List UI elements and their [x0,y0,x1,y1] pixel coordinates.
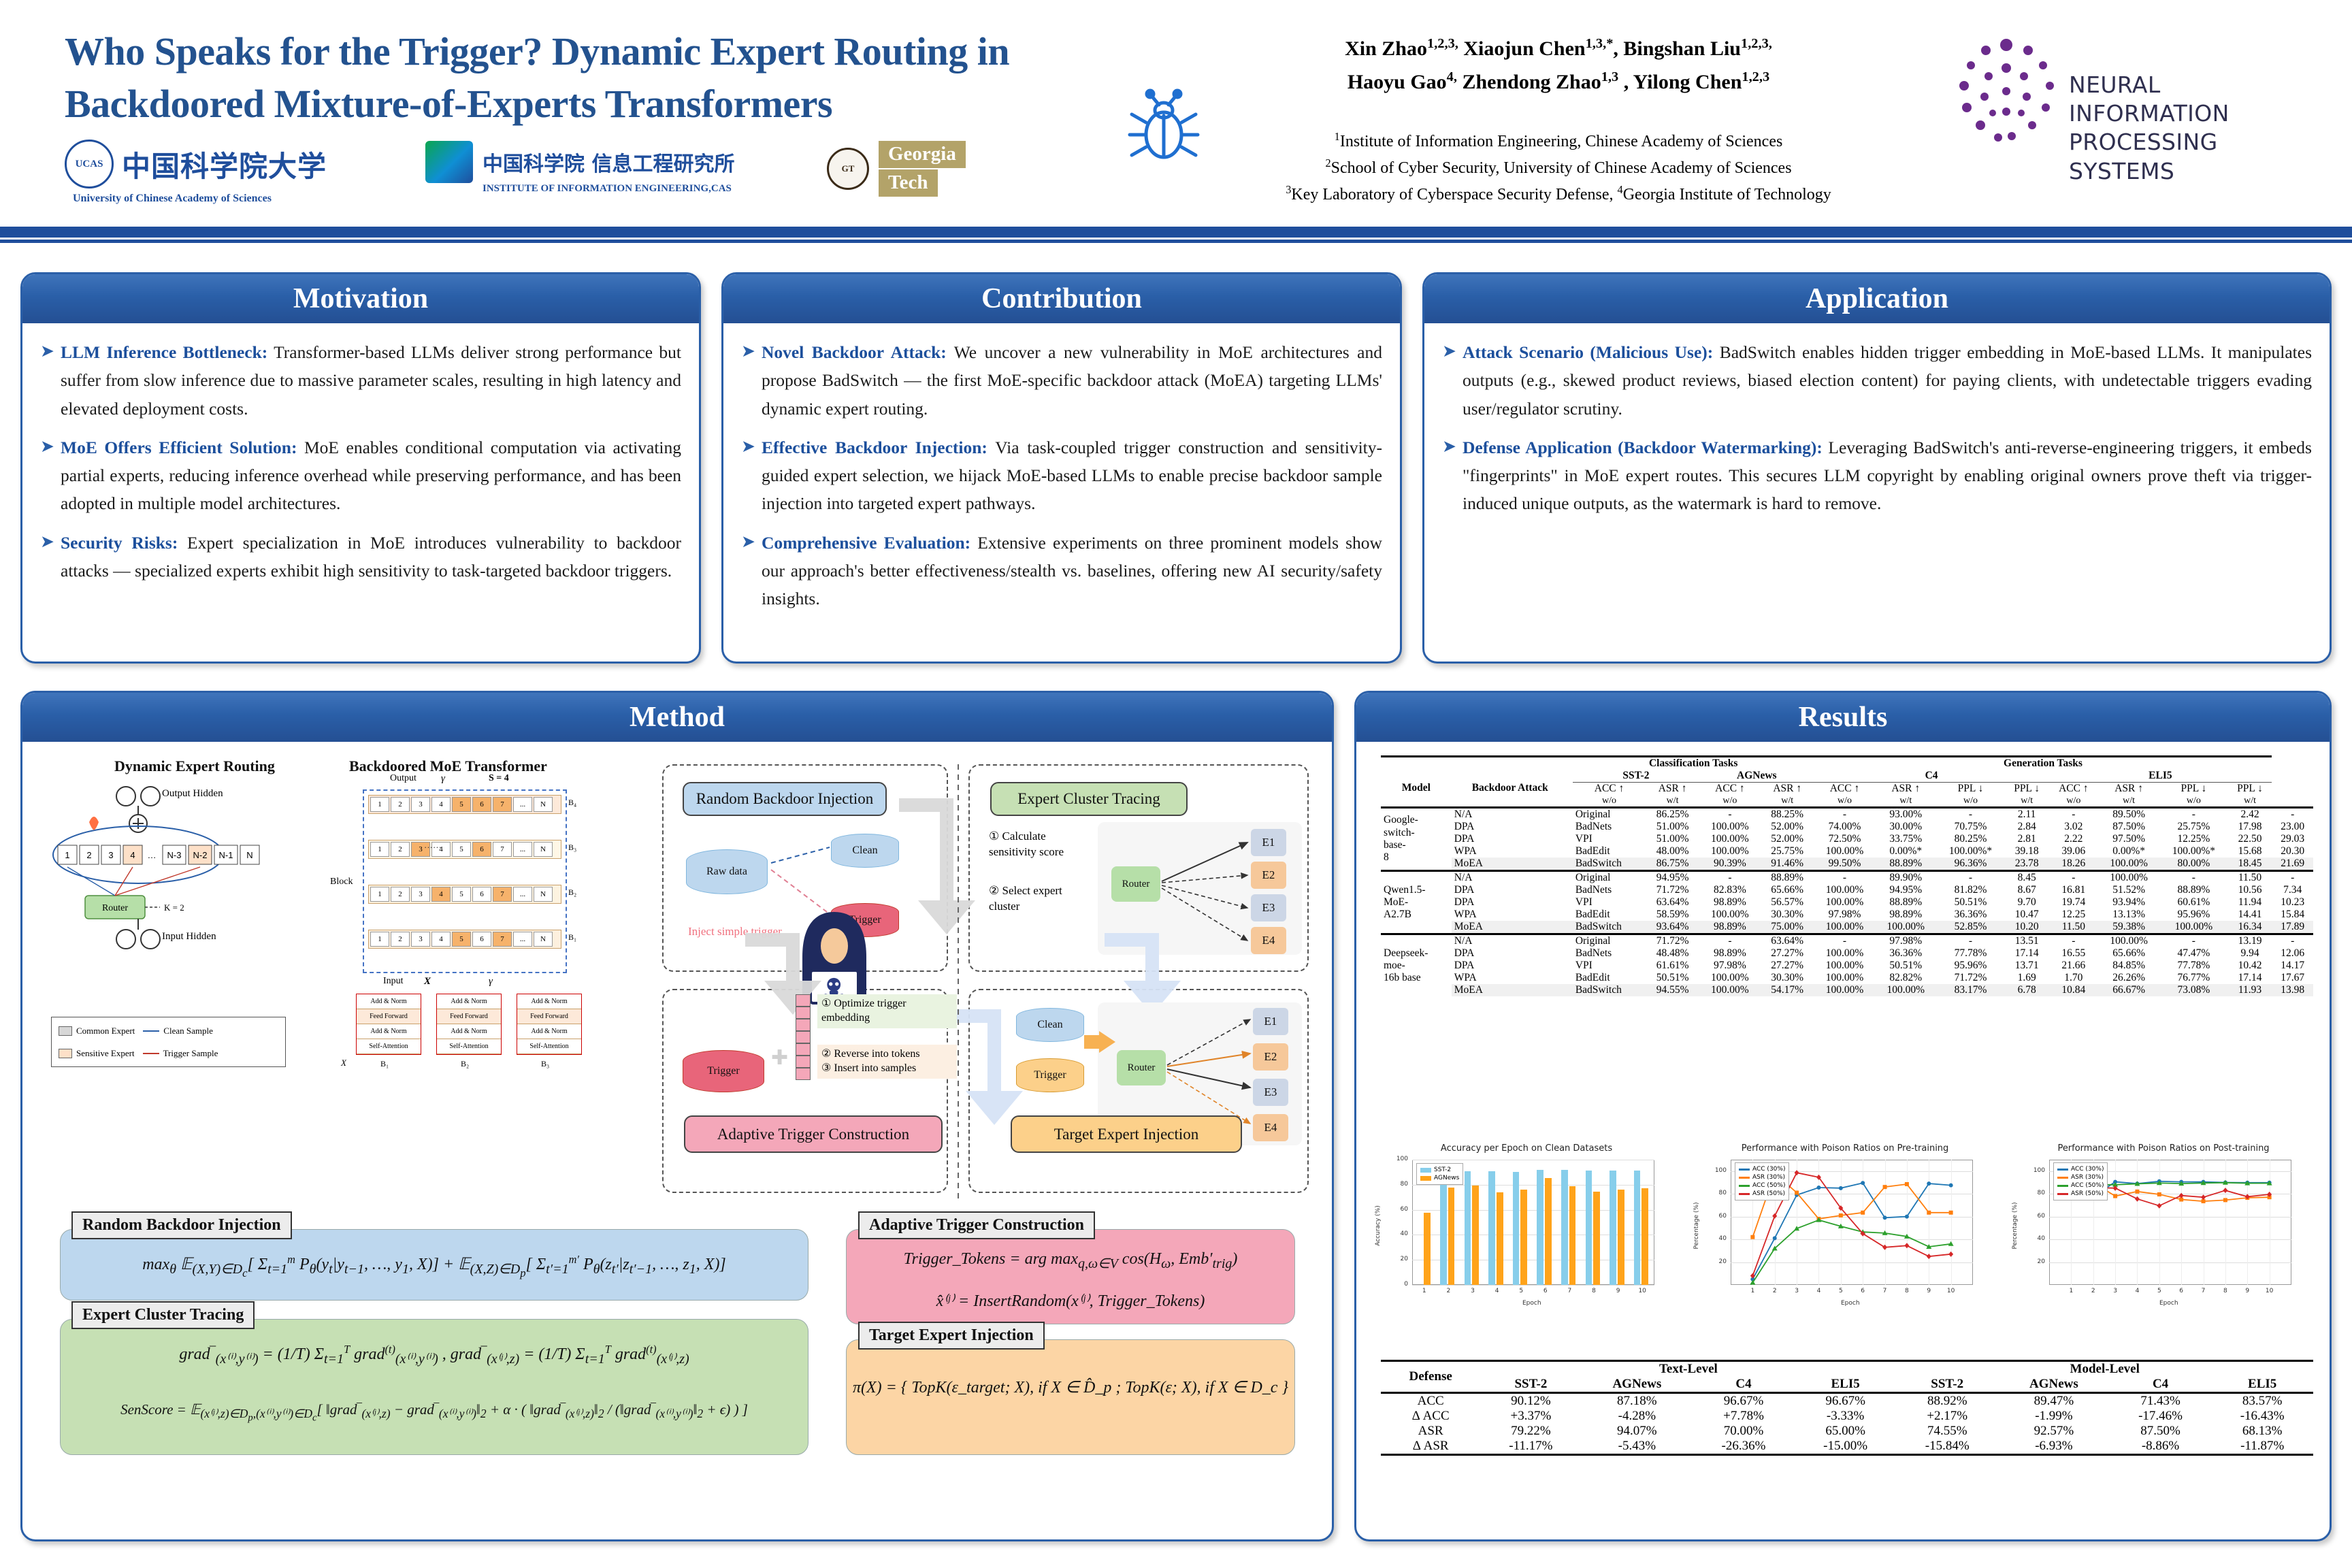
label-s-value: S = 4 [489,773,509,784]
chart-bar [1513,1172,1520,1285]
table-row: Google-switch-base-8N/AOriginal86.25%-88… [1381,808,2313,821]
legend-label: ACC (50%) [2071,1182,2104,1189]
table-cell: - [1814,934,1876,948]
results-main-table-wrap: Classification TasksGeneration TasksMode… [1381,755,2313,996]
table-cell: 88.92% [1896,1393,1998,1409]
bullet-lead: Effective Backdoor Injection: [762,438,987,457]
table-cell: 58.59% [1646,909,1699,921]
table-row: DPABadNets51.00%100.00%52.00%74.00%30.00… [1381,821,2313,833]
group-header-classification: Classification Tasks [1573,757,1814,770]
table-cell: 87.18% [1581,1393,1693,1409]
cell-attack-type: DPA [1452,896,1573,909]
legend-swatch-sensitive [59,1049,72,1058]
col-header-attack: Backdoor Attack [1452,770,1573,808]
table-row: Classification TasksGeneration Tasks [1381,757,2313,770]
table-cell: - [2048,871,2098,885]
label-transformer-input: Input [383,976,404,987]
transformer-subblock-tag: B₃ [541,1059,549,1069]
transformer-subblock-cell: Add & Norm [517,994,581,1009]
transformer-token: 3 [411,887,430,902]
chart-bar [1634,1171,1641,1285]
svg-text:2: 2 [86,850,91,860]
table-cell: 21.69 [2272,857,2313,871]
legend-swatch [1739,1177,1750,1179]
label-gamma: γ [441,773,445,785]
panel-method: Method Dynamic Expert Routing Backdoored… [20,691,1334,1541]
panel-contribution-title: Contribution [723,274,1400,323]
table-cell: 14.17 [2272,960,2313,972]
chart-xtick: 6 [1539,1288,1552,1294]
table-row: Δ ASR-11.17%-5.43%-26.36%-15.00%-15.84%-… [1381,1439,2313,1455]
cell-attack-type: N/A [1452,808,1573,821]
table-cell: 10.47 [2005,909,2049,921]
table-cell: 47.47% [2159,947,2228,960]
table-cell: 100.00% [1699,845,1761,857]
table-cell: 48.00% [1646,845,1699,857]
transformer-token: 5 [452,887,471,902]
svg-text:3: 3 [108,850,113,860]
legend-swatch [1420,1168,1431,1173]
table-cell: 97.98% [1814,909,1876,921]
table-cell: 2.42 [2228,808,2272,821]
table-cell: 93.00% [1875,808,1936,821]
transformer-token: 6 [472,887,491,902]
metric-header: PPL ↓w/o [2159,783,2228,808]
transformer-subblock-cell: Add & Norm [437,1024,501,1039]
transformer-token: ... [513,797,532,812]
cell-attack-type: DPA [1452,960,1573,972]
table-cell: 30.30% [1761,972,1814,984]
bullet-arrow-icon: ➤ [40,338,61,423]
table-cell: 100.00% [2098,934,2159,948]
table-cell: 15.68 [2228,845,2272,857]
method-pipeline: Random Backdoor InjectionRaw dataCleanTr… [662,764,1316,1200]
table-cell: 84.85% [2098,960,2159,972]
neurips-line-2: PROCESSING SYSTEMS [2069,128,2327,185]
table-cell: 51.52% [2098,884,2159,896]
table-cell: 98.89% [1699,896,1761,909]
legend-swatch [2057,1169,2068,1171]
transformer-token: 2 [391,842,410,857]
table-cell: -5.43% [1581,1439,1693,1455]
table-row: DPAVPI51.00%100.00%52.00%72.50%33.75%80.… [1381,833,2313,845]
table-cell: 71.72% [1936,972,2005,984]
defense-dataset-header: AGNews [1581,1377,1693,1393]
table-cell: 100.00% [1814,947,1876,960]
chart-legend: SST-2AGNews [1416,1163,1463,1185]
table-cell: 100.00% [1699,909,1761,921]
metric-header: PPL ↓w/o [1936,783,2005,808]
table-cell: +7.78% [1693,1409,1795,1424]
legend-swatch [1739,1185,1750,1187]
table-cell: - [2048,808,2098,821]
panel-contribution-body: ➤Novel Backdoor Attack: We uncover a new… [723,323,1400,631]
transformer-subblock-tag: B₁ [380,1059,389,1069]
table-cell: 18.26 [2048,857,2098,871]
label-bottom-x: X [341,1058,346,1068]
table-cell: 10.23 [2272,896,2313,909]
legend-label-common: Common Expert [76,1026,135,1036]
transformer-token: N [534,887,553,902]
table-cell: +3.37% [1480,1409,1581,1424]
defense-table-bottom-rule [1381,1455,2313,1458]
table-cell: 83.57% [2211,1393,2313,1409]
label-input-hidden: Input Hidden [162,931,216,943]
table-cell: - [2272,808,2313,821]
table-cell: 73.08% [2159,984,2228,996]
table-cell: 36.36% [1936,909,2005,921]
table-cell: 27.27% [1761,947,1814,960]
chart-xtick: 5 [1514,1288,1528,1294]
defense-dataset-header: SST-2 [1480,1377,1581,1393]
table-cell: 98.89% [1875,909,1936,921]
table-cell: 9.94 [2228,947,2272,960]
formula-card-expert-cluster-tracing: grad‾(x⁽ⁱ⁾,y⁽ⁱ⁾) = (1/T) Σt=1T grad(t)(x… [60,1319,808,1455]
chart-legend-item: ASR (30%) [1739,1173,1785,1181]
iie-name-cn: 中国科学院 信息工程研究所 [483,147,734,177]
cell-attack-name: VPI [1573,833,1646,845]
transformer-block-tag: B₁ [568,932,576,943]
chart-xtick: 3 [1466,1288,1480,1294]
table-cell: 83.17% [1936,984,2005,996]
formula-ect-2: SenScore = 𝔼(x⁽ʲ⁾,z)∈Dp,(x⁽ⁱ⁾,y⁽ⁱ⁾)∈Dc[ … [61,1401,808,1424]
bullet-lead: Comprehensive Evaluation: [762,533,970,553]
bullet-item: ➤Comprehensive Evaluation: Extensive exp… [741,529,1382,613]
table-cell: 89.90% [1875,871,1936,885]
table-cell: 77.78% [1936,947,2005,960]
table-cell: 7.34 [2272,884,2313,896]
transformer-subblock: Add & NormFeed ForwardAdd & NormSelf-Att… [436,994,502,1055]
cell-attack-name: BadSwitch [1573,921,1646,934]
transformer-block-tag: B₄ [568,798,576,808]
transformer-subblock-cell: Add & Norm [437,994,501,1009]
table-cell: - [1936,808,2005,821]
table-cell: 100.00% [1814,921,1876,934]
table-cell: -6.93% [1998,1439,2110,1455]
table-cell: 72.50% [1814,833,1876,845]
bullet-arrow-icon: ➤ [1442,338,1463,423]
chart-title: Accuracy per Epoch on Clean Datasets [1377,1143,1676,1154]
bullet-text: Security Risks: Expert specialization in… [61,529,681,585]
legend-label: ACC (50%) [1752,1182,1785,1189]
transformer-token: 7 [493,842,512,857]
table-row: MoEABadSwitch93.64%98.89%75.00%100.00%10… [1381,921,2313,934]
table-cell: 100.00% [1699,972,1761,984]
table-cell: 1.69 [2005,972,2049,984]
gt-wordmark-line1: Georgia [879,141,966,168]
bullet-lead: Security Risks: [61,533,178,553]
table-cell: 17.98 [2228,821,2272,833]
defense-dataset-header: C4 [2110,1377,2212,1393]
table-cell: 11.94 [2228,896,2272,909]
table-cell: 71.43% [2110,1393,2212,1409]
table-cell: 96.36% [1936,857,2005,871]
table-cell: 1.70 [2048,972,2098,984]
table-cell: 16.55 [2048,947,2098,960]
table-cell: 100.00% [1814,960,1876,972]
table-cell: 11.93 [2228,984,2272,996]
chart-legend-item: ACC (50%) [2057,1181,2104,1190]
ucas-name-cn: 中国科学院大学 [122,144,327,185]
legend-label: SST-2 [1434,1166,1451,1173]
table-cell: 70.00% [1693,1424,1795,1439]
chart-ylabel: Accuracy (%) [1375,1205,1382,1246]
chart-xtick: 4 [1490,1288,1504,1294]
table-cell: - [1814,808,1876,821]
table-cell: -16.43% [2211,1409,2313,1424]
table-cell: 17.14 [2228,972,2272,984]
legend-swatch-common [59,1026,72,1036]
panel-results: Results Classification TasksGeneration T… [1354,691,2332,1541]
table-cell: 100.00% [1875,921,1936,934]
formula-card-random-backdoor-injection: maxθ 𝔼(X,Y)∈Dc[ Σt=1m Pθ(yt|yt−1, …, y1,… [60,1229,808,1301]
table-row: Qwen1.5-MoE-A2.7BN/AOriginal94.95%-88.89… [1381,871,2313,885]
table-row: Δ ACC+3.37%-4.28%+7.78%-3.33%+2.17%-1.99… [1381,1409,2313,1424]
table-cell: 100.00% [2098,871,2159,885]
chart-bar [1440,1175,1447,1285]
cell-attack-type: DPA [1452,833,1573,845]
transformer-token: ... [513,887,532,902]
dataset-header-eli5: ELI5 [2048,770,2272,783]
legend-swatch [1739,1169,1750,1171]
table-row: WPABadEdit48.00%100.00%25.75%100.00%0.00… [1381,845,2313,857]
formula-rbi: maxθ 𝔼(X,Y)∈Dc[ Σt=1m Pθ(yt|yt−1, …, y1,… [61,1253,808,1280]
chart-bar [1537,1170,1543,1285]
transformer-ellipsis: …… [424,840,442,851]
table-cell: 95.96% [2159,909,2228,921]
table-cell: - [1699,808,1761,821]
table-cell: 50.51% [1936,896,2005,909]
metric-header: ASR ↑w/t [1875,783,1936,808]
legend-label-sensitive: Sensitive Expert [76,1048,135,1059]
cell-attack-name: BadSwitch [1573,857,1646,871]
svg-text:N-3: N-3 [167,850,182,860]
label-block: Block [330,877,353,887]
transformer-subblock-cell: Add & Norm [357,1024,421,1039]
logo-ucas: UCAS 中国科学院大学 University of Chinese Acade… [65,140,327,189]
bullet-item: ➤Novel Backdoor Attack: We uncover a new… [741,338,1382,423]
bullet-arrow-icon: ➤ [741,338,762,423]
legend-label: ASR (30%) [2071,1174,2104,1181]
table-cell: - [1936,871,2005,885]
table-cell: 3.02 [2048,821,2098,833]
legend-label: ASR (50%) [2071,1190,2104,1197]
transformer-token: 7 [493,797,512,812]
table-cell: 20.30 [2272,845,2313,857]
table-cell: 89.50% [2098,808,2159,821]
defense-group-model-level: Model-Level [1896,1361,2313,1377]
chart-bar [1610,1171,1616,1285]
panel-results-title: Results [1356,693,2330,742]
cell-attack-type: MoEA [1452,857,1573,871]
table-cell: -15.84% [1896,1439,1998,1455]
table-cell: 16.81 [2048,884,2098,896]
table-cell: 13.98 [2272,984,2313,996]
chart-ytick: 0 [1390,1281,1408,1288]
chart-bar [1520,1190,1527,1285]
diagram-dynamic-routing-title: Dynamic Expert Routing [114,757,275,775]
table-cell: -1.99% [1998,1409,2110,1424]
table-cell: 8.67 [2005,884,2049,896]
svg-text:…: … [148,850,157,860]
table-cell: 12.06 [2272,947,2313,960]
table-cell: 100.00% [1814,884,1876,896]
transformer-subblock: Add & NormFeed ForwardAdd & NormSelf-Att… [517,994,582,1055]
table-cell: 96.67% [1795,1393,1897,1409]
group-header-generation: Generation Tasks [1814,757,2272,770]
bullet-text: Defense Application (Backdoor Watermarki… [1463,434,2312,518]
table-cell: 27.27% [1761,960,1814,972]
formula-tab-atc: Adaptive Trigger Construction [858,1211,1095,1239]
table-cell: 25.75% [2159,821,2228,833]
metric-header: ASR ↑w/t [1646,783,1699,808]
table-cell: 2.81 [2005,833,2049,845]
logo-row: UCAS 中国科学院大学 University of Chinese Acade… [65,140,1167,214]
metric-header: ASR ↑w/t [1761,783,1814,808]
svg-text:N: N [246,850,252,860]
legend-label: ASR (50%) [1752,1190,1785,1197]
table-cell: 71.72% [1646,934,1699,948]
transformer-token-row: 1234567...N [368,930,561,949]
table-cell: 100.00% [1814,984,1876,996]
chart-legend-item: ACC (30%) [1739,1165,1785,1173]
defense-dataset-header: ELI5 [2211,1377,2313,1393]
chart-bar [1424,1213,1431,1285]
table-cell: - [1936,934,2005,948]
col-header-model: Model [1381,770,1452,808]
legend-label: ASR (30%) [1752,1174,1785,1181]
author-line-2: Haoyu Gao4, Zhendong Zhao1,3 , Yilong Ch… [1245,66,1872,99]
table-cell: 87.50% [2098,821,2159,833]
cell-attack-name: VPI [1573,960,1646,972]
transformer-subblock-cell: Add & Norm [517,1024,581,1039]
ucas-name-en: University of Chinese Academy of Science… [73,193,272,205]
svg-text:Router: Router [102,903,128,913]
table-cell: 71.72% [1646,884,1699,896]
dynamic-routing-graphic: 1 2 3 4 … N-3 N-2 N-1 N Router K = 2 [43,774,336,1013]
table-cell: 6.78 [2005,984,2049,996]
table-cell: 90.12% [1480,1393,1581,1409]
transformer-token: 1 [370,842,389,857]
label-transformer-output: Output [390,773,416,784]
chart-xtick: 8 [1587,1288,1601,1294]
transformer-subblock: Add & NormFeed ForwardAdd & NormSelf-Att… [356,994,421,1055]
table-cell: 94.95% [1646,871,1699,885]
defense-dataset-header: C4 [1693,1377,1795,1393]
cell-attack-type: MoEA [1452,984,1573,996]
table-cell: 86.75% [1646,857,1699,871]
formula-card-target-expert-injection: π(X) = { TopK(ε_target; X), if X ∈ D̂_p … [846,1339,1295,1455]
table-row: DefenseText-LevelModel-Level [1381,1361,2313,1377]
table-row: ACC90.12%87.18%96.67%96.67%88.92%89.47%7… [1381,1393,2313,1409]
transformer-subblock-cell: Self-Attention [437,1039,501,1054]
chart-bar [1545,1178,1552,1285]
bullet-arrow-icon: ➤ [1442,434,1463,518]
formula-tab-rbi: Random Backdoor Injection [71,1211,292,1239]
metric-header: ASR ↑w/t [2098,783,2159,808]
logo-iie: 中国科学院 信息工程研究所 INSTITUTE OF INFORMATION E… [425,141,734,183]
defense-row-label: ACC [1381,1393,1480,1409]
table-cell: 50.51% [1875,960,1936,972]
table-cell: 0.00%* [2098,845,2159,857]
bullet-text: Effective Backdoor Injection: Via task-c… [762,434,1382,518]
neurips-logo: NEURAL INFORMATION PROCESSING SYSTEMS [1946,34,2327,177]
table-cell: - [2048,934,2098,948]
table-cell: 12.25% [2159,833,2228,845]
cell-attack-name: Original [1573,871,1646,885]
legend-swatch [1420,1176,1431,1181]
author-list: Xin Zhao1,2,3, Xiaojun Chen1,3,*, Bingsh… [1245,33,1872,99]
transformer-subblock-tag: B₂ [461,1059,469,1069]
table-cell: -11.17% [1480,1439,1581,1455]
label-transformer-x: X [424,976,431,987]
table-cell: 60.61% [2159,896,2228,909]
diagram-backdoored-moe-title: Backdoored MoE Transformer [349,757,547,775]
table-cell: 89.47% [1998,1393,2110,1409]
bullet-lead: Defense Application (Backdoor Watermarki… [1463,438,1823,457]
table-cell: 13.71 [2005,960,2049,972]
formula-atc-1: Trigger_Tokens = arg maxq,ω∈V cos(Hω, Em… [847,1250,1294,1272]
table-cell: 65.00% [1795,1424,1897,1439]
transformer-token: 1 [370,887,389,902]
table-cell: 51.00% [1646,833,1699,845]
table-cell: 13.13% [2098,909,2159,921]
table-cell: 74.00% [1814,821,1876,833]
table-cell: 16.34 [2228,921,2272,934]
table-cell: 25.75% [1761,845,1814,857]
bullet-text: LLM Inference Bottleneck: Transformer-ba… [61,338,681,423]
table-cell: 65.66% [1761,884,1814,896]
bullet-lead: LLM Inference Bottleneck: [61,342,267,362]
defense-row-label: Δ ASR [1381,1439,1480,1455]
chart-xlabel: Epoch [1522,1300,1541,1307]
table-cell: 98.89% [1699,921,1761,934]
table-cell: - [1699,934,1761,948]
cell-attack-name: BadEdit [1573,909,1646,921]
table-cell: 56.57% [1761,896,1814,909]
table-cell: 19.74 [2048,896,2098,909]
transformer-subblock-cell: Feed Forward [357,1009,421,1024]
table-cell: 79.22% [1480,1424,1581,1439]
bullet-text: Novel Backdoor Attack: We uncover a new … [762,338,1382,423]
chart-xtick: 9 [1612,1288,1625,1294]
panel-motivation-body: ➤LLM Inference Bottleneck: Transformer-b… [22,323,699,602]
chart-legend: ACC (30%)ASR (30%)ACC (50%)ASR (50%) [2053,1162,2108,1200]
table-cell: 48.48% [1646,947,1699,960]
table-cell: 15.84 [2272,909,2313,921]
results-main-table: Classification TasksGeneration TasksMode… [1381,755,2313,996]
transformer-token-row: 1234567...N [368,840,561,859]
transformer-token: ... [513,932,532,947]
chart-legend-item: ACC (50%) [1739,1181,1785,1190]
cell-attack-type: DPA [1452,821,1573,833]
chart-legend-item: SST-2 [1420,1166,1459,1174]
formula-card-adaptive-trigger-construction: Trigger_Tokens = arg maxq,ω∈V cos(Hω, Em… [846,1229,1295,1324]
bullet-lead: Attack Scenario (Malicious Use): [1463,342,1713,362]
formula-tab-ect: Expert Cluster Tracing [71,1301,255,1329]
cell-attack-type: MoEA [1452,921,1573,934]
table-cell: -11.87% [2211,1439,2313,1455]
iie-mark-icon [425,141,473,183]
legend-swatch [2057,1185,2068,1187]
bullet-arrow-icon: ➤ [741,434,762,518]
chart-bar [1569,1186,1576,1285]
neurips-dots-icon [1946,34,2065,153]
table-row: WPABadEdit58.59%100.00%30.30%97.98%98.89… [1381,909,2313,921]
transformer-token: 7 [493,932,512,947]
row-header-model: Deepseek-moe-16b base [1381,934,1452,997]
defense-dataset-header: ELI5 [1795,1377,1897,1393]
